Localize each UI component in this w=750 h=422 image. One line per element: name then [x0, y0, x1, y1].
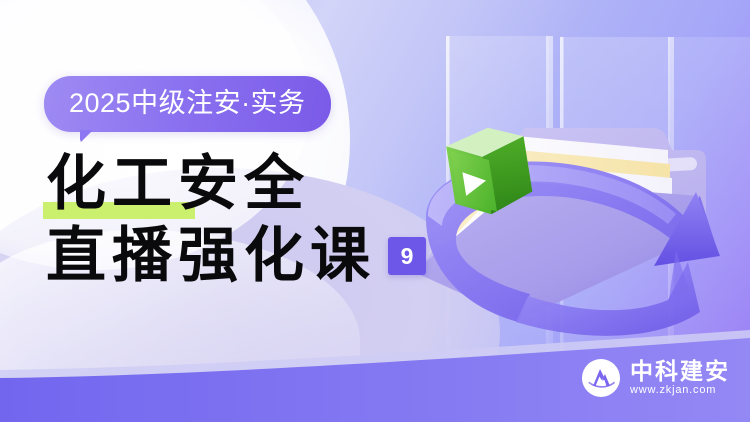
- brand-name: 中科建安: [630, 360, 730, 383]
- headline-line-1: 化工安全: [46, 151, 310, 217]
- course-tag-pill: 2025中级注安·实务: [44, 76, 331, 132]
- course-tag-badge: 2025中级注安·实务: [44, 76, 331, 132]
- brand-logo-text: 中科建安 www.zkjan.com: [630, 360, 730, 396]
- mountain-peak-circle-icon: [581, 358, 621, 398]
- headline-line-2: 直播强化课: [46, 220, 376, 292]
- speech-bubble-tail-icon: [80, 130, 97, 143]
- brand-logo[interactable]: 中科建安 www.zkjan.com: [581, 358, 730, 398]
- course-tag-label: 2025中级注安·实务: [69, 90, 306, 117]
- course-promo-banner: 2025中级注安·实务 化工安全 直播强化课 9 中科建安 www.zkjan.…: [0, 0, 750, 422]
- brand-url: www.zkjan.com: [630, 385, 730, 396]
- episode-number-badge: 9: [388, 237, 426, 275]
- headline-block: 化工安全 直播强化课 9: [46, 148, 466, 292]
- headline-line-1-row: 化工安全: [46, 148, 466, 220]
- headline-line-2-row: 直播强化课 9: [46, 220, 466, 292]
